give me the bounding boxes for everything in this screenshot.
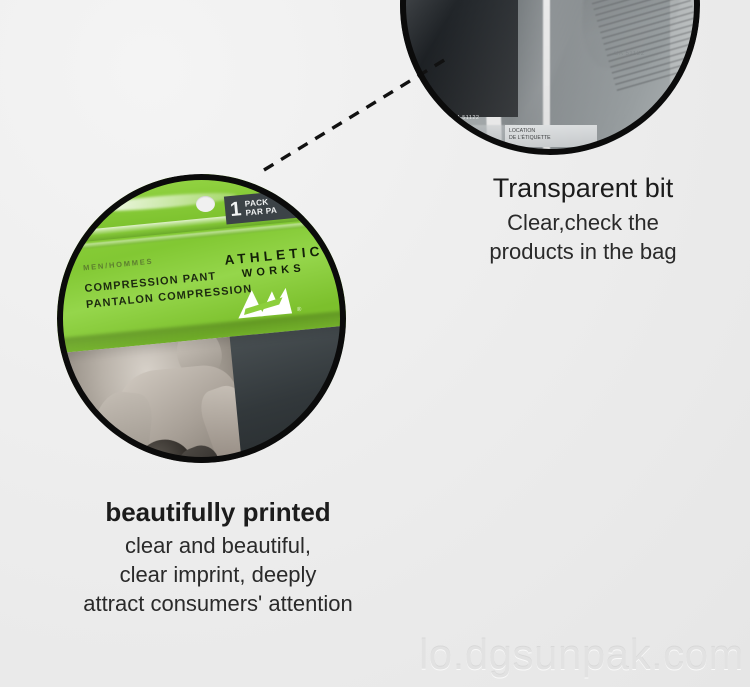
callout-circle-printed-bag: 1 PACK PAR PA MEN/HOMMES COMPRESSION PAN…: [57, 174, 346, 463]
pack-badge-line2: PAR PA: [245, 206, 277, 218]
caption-printed-subtitle: clear and beautiful, clear imprint, deep…: [8, 531, 428, 619]
caption-printed-sub-line1: clear and beautiful,: [8, 531, 428, 560]
caption-printed-title: beautifully printed: [8, 496, 428, 529]
caption-transparent-title: Transparent bit: [418, 172, 748, 206]
printed-bag-photo: 1 PACK PAR PA MEN/HOMMES COMPRESSION PAN…: [57, 174, 346, 463]
pack-badge-text: PACK PAR PA: [244, 196, 277, 218]
caption-printed-sub-line2: clear imprint, deeply: [8, 560, 428, 589]
caption-transparent: Transparent bit Clear,check the products…: [418, 172, 748, 267]
caption-printed-sub-line3: attract consumers' attention: [8, 589, 428, 618]
site-watermark: lo.dgsunpak.com: [0, 626, 750, 684]
plastic-wrinkle-highlight: [59, 313, 244, 455]
caption-printed: beautifully printed clear and beautiful,…: [8, 496, 428, 619]
registered-trademark-mark: ®: [297, 307, 302, 313]
caption-transparent-sub-line2: products in the bag: [418, 237, 748, 266]
pack-badge-number: 1: [229, 199, 242, 220]
dashed-connector-line: [250, 45, 460, 185]
caption-transparent-subtitle: Clear,check the products in the bag: [418, 208, 748, 267]
euro-hang-hole: [196, 196, 215, 212]
image-canvas: Care Instructions: Machine wash cold. Wa…: [0, 0, 750, 687]
caption-transparent-sub-line1: Clear,check the: [418, 208, 748, 237]
